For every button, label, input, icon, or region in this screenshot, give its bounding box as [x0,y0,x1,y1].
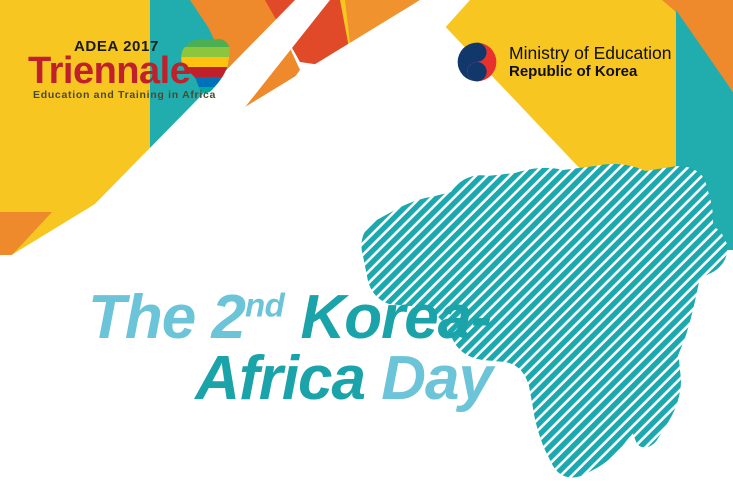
poster-canvas: ADEA 2017 Triennale Education and Traini… [0,0,733,498]
adea-triennale-logo: ADEA 2017 Triennale Education and Traini… [28,38,238,100]
triennale-wordmark: Triennale [28,50,190,93]
page-title: The 2nd Korea- Africa Day [0,288,520,410]
ministry-text-block: Ministry of Education Republic of Korea [509,43,671,81]
title-africa: Africa [195,344,381,413]
africa-horn-shape [675,224,727,282]
ministry-of-education-korea-logo: Ministry of Education Republic of Korea [455,40,671,84]
title-the-2: The 2 [88,283,245,352]
title-line-2: Africa Day [0,349,520,410]
title-day: Day [381,344,492,413]
taegeuk-blue-lobe [467,62,486,81]
title-korea: Korea- [284,283,491,352]
triennale-tagline: Education and Training in Africa [33,89,216,101]
korea-taegeuk-emblem [455,40,499,84]
ministry-country-line: Republic of Korea [509,63,671,81]
title-ordinal-suffix: nd [245,286,284,323]
title-line-1: The 2nd Korea- [0,288,520,349]
ministry-name-line: Ministry of Education [509,43,671,64]
